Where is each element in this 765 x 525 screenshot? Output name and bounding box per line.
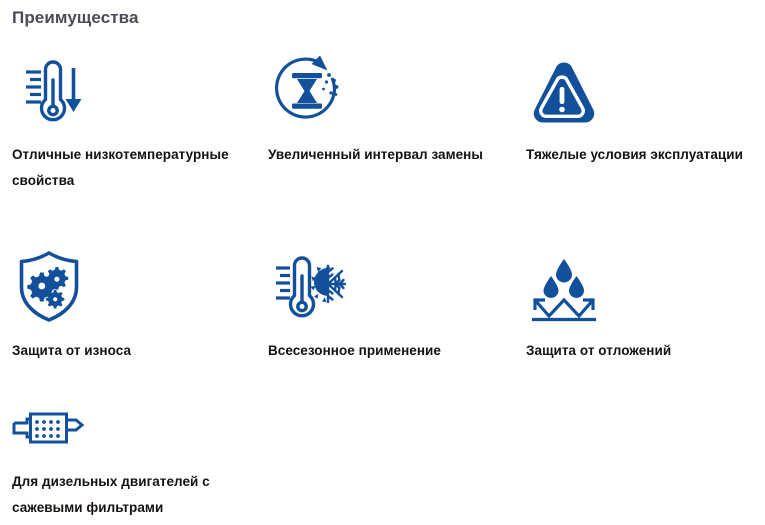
benefit-label: Тяжелые условия эксплуатации	[526, 142, 765, 168]
droplets-repel-surface-icon	[526, 240, 765, 324]
benefit-item-low-temperature-properties: Отличные низкотемпературные свойства	[12, 44, 260, 194]
benefit-label: Всесезонное применение	[268, 338, 516, 364]
particulate-filter-icon	[12, 385, 260, 455]
benefit-item-extended-drain-interval: Увеличенный интервал замены	[268, 44, 516, 168]
benefit-label: Для дизельных двигателей с сажевыми филь…	[12, 469, 260, 521]
benefit-item-wear-protection: Защита от износа	[12, 240, 260, 364]
warning-triangle-icon	[526, 44, 765, 128]
hourglass-refresh-icon	[268, 44, 516, 128]
benefit-label: Отличные низкотемпературные свойства	[12, 142, 260, 194]
thermometer-sun-snowflake-icon	[268, 240, 516, 324]
benefits-grid: Отличные низкотемпературные свойства	[0, 44, 765, 240]
benefit-item-severe-operating-conditions: Тяжелые условия эксплуатации	[526, 44, 765, 168]
benefits-row: Для дизельных двигателей с сажевыми филь…	[0, 385, 765, 525]
benefits-row: Защита от износа	[0, 240, 765, 385]
benefit-item-all-season-use: Всесезонное применение	[268, 240, 516, 364]
benefits-row: Отличные низкотемпературные свойства	[0, 44, 765, 240]
benefit-item-deposit-protection: Защита от отложений	[526, 240, 765, 364]
benefit-label: Защита от отложений	[526, 338, 765, 364]
shield-gears-icon	[12, 240, 260, 324]
benefit-item-diesel-particulate-filter: Для дизельных двигателей с сажевыми филь…	[12, 385, 260, 521]
thermometer-down-arrow-icon	[12, 44, 260, 128]
page-title: Преимущества	[12, 7, 139, 29]
benefit-label: Увеличенный интервал замены	[268, 142, 516, 168]
benefits-section: Преимущества	[0, 0, 765, 525]
benefit-label: Защита от износа	[12, 338, 260, 364]
